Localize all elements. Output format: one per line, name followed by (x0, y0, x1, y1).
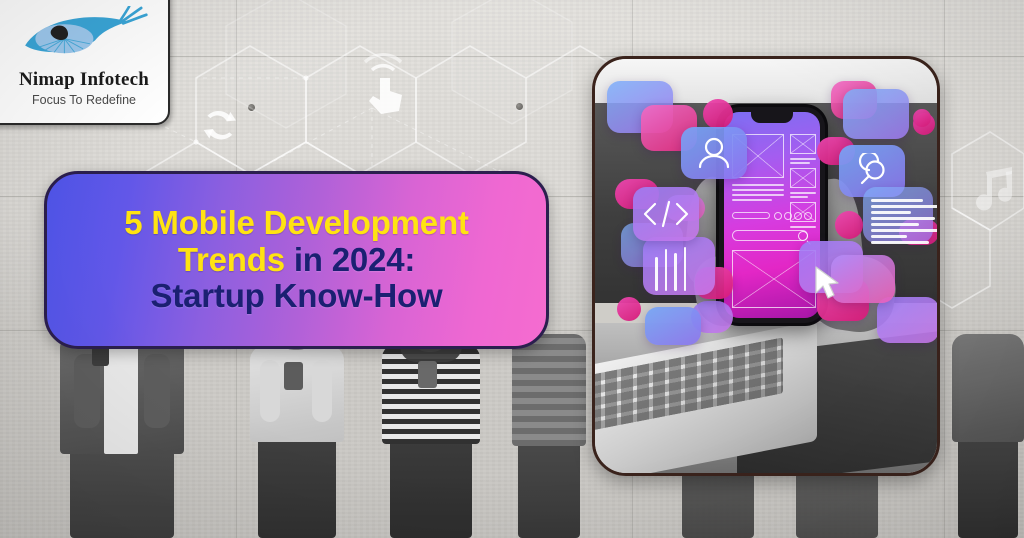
phone-notch (751, 112, 793, 123)
logo-company-name: Nimap Infotech (19, 69, 149, 91)
blog-banner: Nimap Infotech Focus To Redefine 5 Mobil… (0, 0, 1024, 538)
headline-line-1: 5 Mobile Development (65, 205, 528, 242)
blob-magenta-2 (617, 297, 641, 321)
wireframe-search-icon (798, 231, 808, 241)
headline-card: 5 Mobile Development Trends in 2024: Sta… (44, 171, 549, 349)
headline-line-3-text: Startup Know-How (151, 277, 443, 314)
blob-magenta (703, 99, 733, 129)
blob-magenta-4 (835, 211, 863, 239)
wireframe-image-box (790, 168, 816, 188)
text-lines-icon (871, 199, 940, 244)
user-profile-icon (681, 127, 747, 179)
wall-bolt (248, 104, 255, 111)
blob-magenta-5 (913, 109, 931, 127)
wireframe-search-field (732, 230, 808, 241)
wall-bolt (516, 103, 523, 110)
headline-line-3: Startup Know-How (65, 278, 528, 315)
eye-icon (20, 6, 148, 68)
tile-plain-blue-3 (645, 307, 701, 345)
logo-tagline: Focus To Redefine (32, 93, 136, 107)
code-brackets-icon (633, 187, 699, 241)
headline-highlight-1: 5 Mobile Development (124, 204, 468, 241)
bar-chart-icon (655, 247, 686, 291)
headline-line-2: Trends in 2024: (65, 242, 528, 279)
wireframe-toggle (732, 212, 770, 219)
tile-user-profile (681, 127, 747, 179)
wireframe-image-box (790, 202, 816, 222)
cursor-pointer-icon (813, 265, 843, 306)
tile-plain-blue-4 (843, 89, 909, 139)
feature-image-panel (592, 56, 940, 476)
tile-code-brackets (633, 187, 699, 241)
headline-highlight-2: Trends (178, 241, 285, 278)
company-logo-box[interactable]: Nimap Infotech Focus To Redefine (0, 0, 170, 125)
person-with-phone (952, 308, 1024, 538)
headline-rest-2: in 2024: (285, 241, 415, 278)
wireframe-image-box (790, 134, 816, 154)
tile-plain-purple (877, 297, 939, 343)
